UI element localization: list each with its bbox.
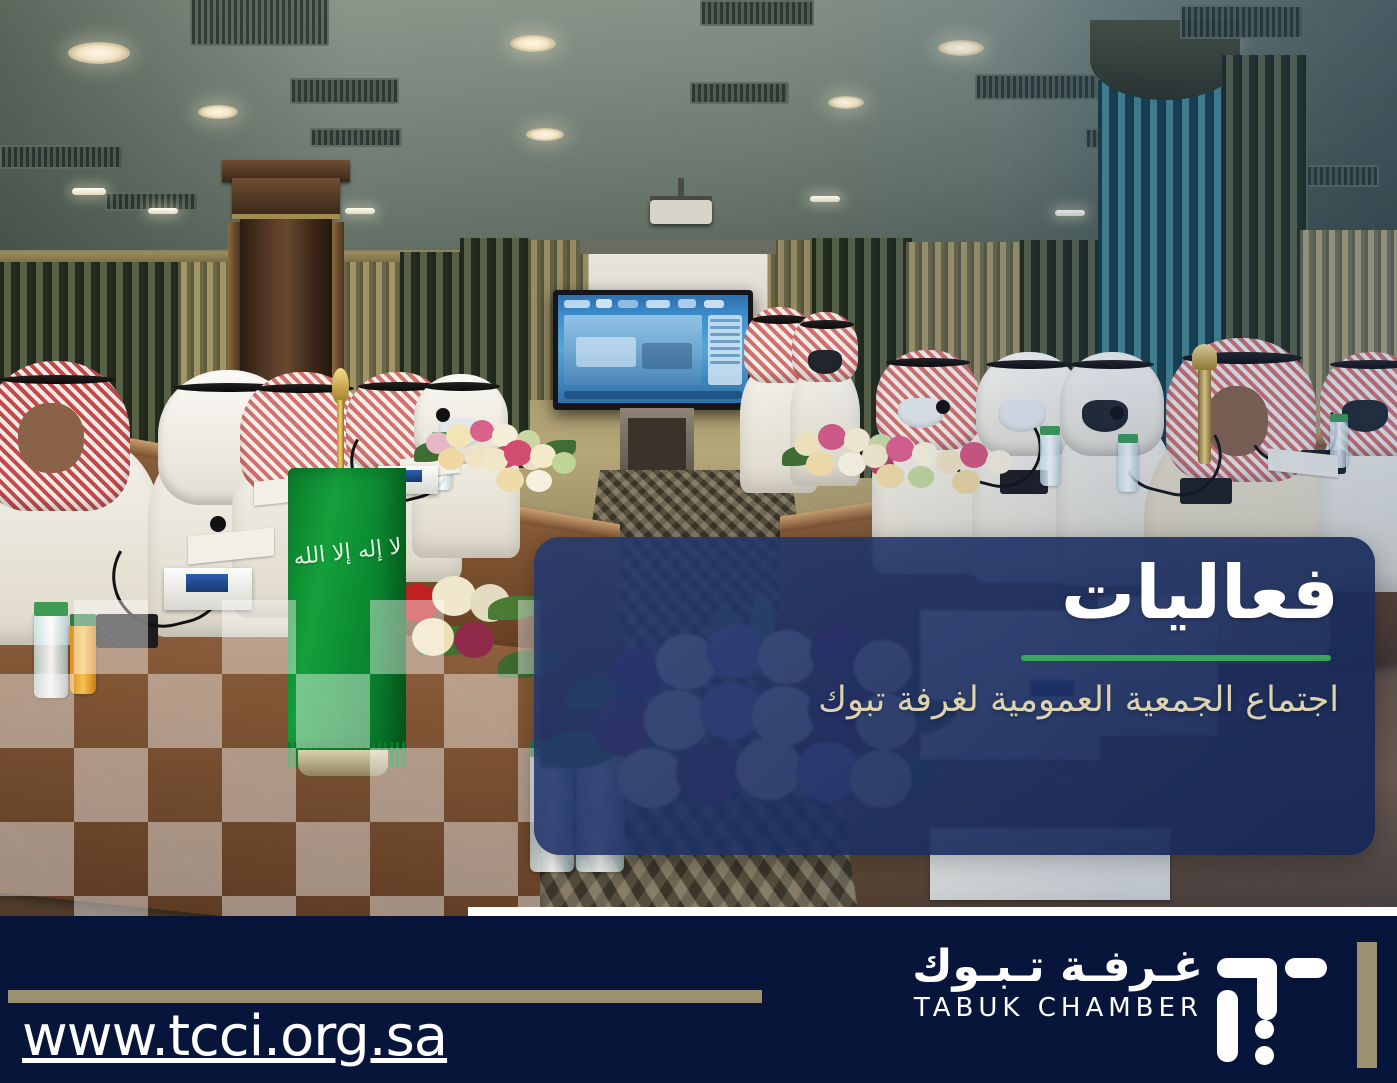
footer-divider	[468, 907, 1397, 916]
ceiling-light	[198, 105, 238, 119]
ceiling-vent	[0, 145, 124, 169]
bottle-cap	[70, 614, 96, 626]
ceiling-vent	[310, 128, 402, 147]
water-bottle	[1118, 440, 1138, 492]
ceiling-light	[1055, 210, 1085, 216]
projector	[650, 200, 712, 224]
ceiling-vent	[290, 78, 399, 104]
bottle-cap	[1118, 434, 1138, 443]
microphone-head	[436, 408, 450, 422]
card-subtitle: اجتماع الجمعية العمومية لغرفة تبوك	[559, 677, 1339, 724]
flag-stand	[298, 750, 388, 776]
display-screen	[558, 295, 748, 403]
display-stand	[628, 418, 686, 470]
ceiling-light	[72, 188, 106, 195]
logo-vertical-bar	[1357, 942, 1377, 1068]
chamber-logo-mark-icon	[1217, 946, 1337, 1064]
bottle-cap	[1040, 426, 1060, 435]
footer-bar: www.tcci.org.sa غـرفـة تـبـوك TABUK CHAM…	[0, 916, 1397, 1083]
event-info-card: فعاليات اجتماع الجمعية العمومية لغرفة تب…	[534, 537, 1375, 855]
bottle-cap	[34, 602, 68, 616]
ceiling-light	[345, 208, 375, 214]
column-trim	[232, 214, 340, 219]
ceiling-light	[938, 40, 984, 56]
footer-accent-bar	[8, 990, 762, 1003]
flag-calligraphy: لا إله إلا الله محمد رسول الله	[291, 534, 403, 570]
tabuk-chamber-logo: غـرفـة تـبـوك TABUK CHAMBER	[823, 926, 1383, 1076]
box-label	[186, 574, 228, 592]
bottle-cap	[1330, 414, 1348, 422]
column-capital	[232, 178, 340, 216]
card-title: فعاليات	[1061, 555, 1339, 633]
ceiling-vent	[700, 0, 814, 26]
microphone-head	[1110, 406, 1124, 420]
microphone-head	[210, 516, 226, 532]
card-accent-rule	[1021, 655, 1331, 661]
logo-arabic-name: غـرفـة تـبـوك	[843, 942, 1203, 991]
ceiling-light	[510, 35, 556, 52]
ceiling-vent	[1180, 5, 1304, 39]
ceiling-vent	[975, 74, 1099, 100]
juice-bottle	[70, 622, 96, 694]
ceiling-light	[148, 208, 178, 214]
saudi-flag: لا إله إلا الله محمد رسول الله	[288, 468, 406, 750]
ceiling-light	[828, 96, 864, 109]
poster-canvas: لا إله إلا الله محمد رسول الله فعاليات ا…	[0, 0, 1397, 1083]
screen-housing	[580, 240, 776, 254]
ceiling-light	[68, 42, 130, 64]
ceiling-light	[810, 196, 840, 202]
logo-text-block: غـرفـة تـبـوك TABUK CHAMBER	[843, 942, 1203, 1024]
website-url-link[interactable]: www.tcci.org.sa	[22, 1009, 447, 1065]
logo-english-name: TABUK CHAMBER	[843, 993, 1203, 1024]
water-bottle	[34, 612, 68, 698]
water-bottle	[1040, 432, 1060, 486]
ceiling-vent	[690, 82, 789, 104]
flag-finial	[332, 368, 349, 404]
microphone-head	[936, 400, 950, 414]
ceiling-light	[526, 128, 564, 141]
ceiling-vent	[190, 0, 329, 46]
